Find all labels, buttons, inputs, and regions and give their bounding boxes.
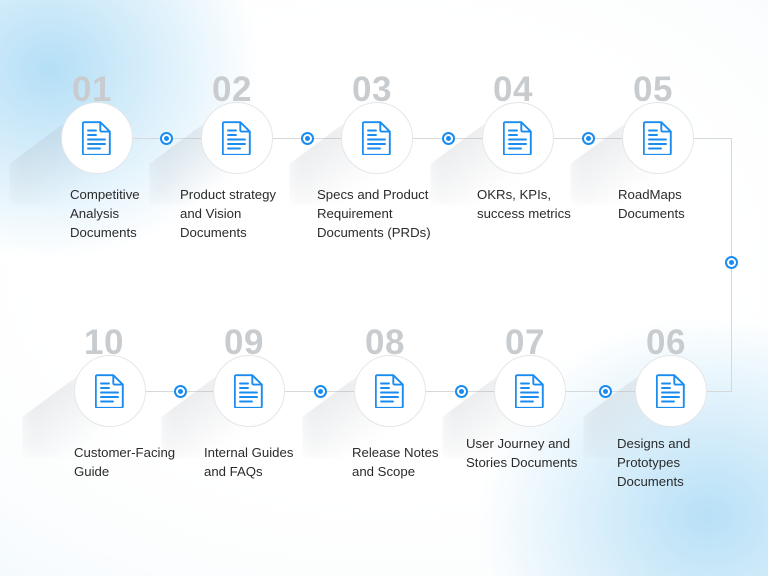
step-label-03: Specs and Product Requirement Documents … <box>317 185 462 242</box>
document-icon <box>234 374 264 408</box>
connector-dot-08-09[interactable] <box>314 385 327 398</box>
document-icon <box>515 374 545 408</box>
step-node-07[interactable] <box>494 355 566 427</box>
flow-diagram-canvas: 01 Competitive Analysis Documents 02 Pro… <box>0 0 768 576</box>
document-icon <box>82 121 112 155</box>
connector-dot-03-04[interactable] <box>442 132 455 145</box>
step-label-01: Competitive Analysis Documents <box>70 185 195 242</box>
document-icon <box>362 121 392 155</box>
step-label-06: Designs and Prototypes Documents <box>617 434 747 491</box>
step-label-10: Customer-Facing Guide <box>74 443 214 481</box>
document-icon <box>503 121 533 155</box>
step-label-09: Internal Guides and FAQs <box>204 443 334 481</box>
connector-dot-09-10[interactable] <box>174 385 187 398</box>
step-node-04[interactable] <box>482 102 554 174</box>
connector-dot-04-05[interactable] <box>582 132 595 145</box>
step-node-01[interactable] <box>61 102 133 174</box>
step-node-03[interactable] <box>341 102 413 174</box>
document-icon <box>222 121 252 155</box>
step-label-08: Release Notes and Scope <box>352 443 482 481</box>
step-node-08[interactable] <box>354 355 426 427</box>
step-node-06[interactable] <box>635 355 707 427</box>
rail-05-to-right <box>694 138 732 139</box>
document-icon <box>95 374 125 408</box>
connector-dot-06-07[interactable] <box>599 385 612 398</box>
step-node-09[interactable] <box>213 355 285 427</box>
connector-dot-01-02[interactable] <box>160 132 173 145</box>
document-icon <box>643 121 673 155</box>
step-node-05[interactable] <box>622 102 694 174</box>
connector-dot-05-06[interactable] <box>725 256 738 269</box>
connector-dot-07-08[interactable] <box>455 385 468 398</box>
document-icon <box>375 374 405 408</box>
connector-dot-02-03[interactable] <box>301 132 314 145</box>
step-label-07: User Journey and Stories Documents <box>466 434 616 472</box>
rail-right-to-06 <box>707 391 732 392</box>
document-icon <box>656 374 686 408</box>
step-label-05: RoadMaps Documents <box>618 185 738 223</box>
step-label-02: Product strategy and Vision Documents <box>180 185 315 242</box>
step-label-04: OKRs, KPIs, success metrics <box>477 185 602 223</box>
step-node-02[interactable] <box>201 102 273 174</box>
step-node-10[interactable] <box>74 355 146 427</box>
